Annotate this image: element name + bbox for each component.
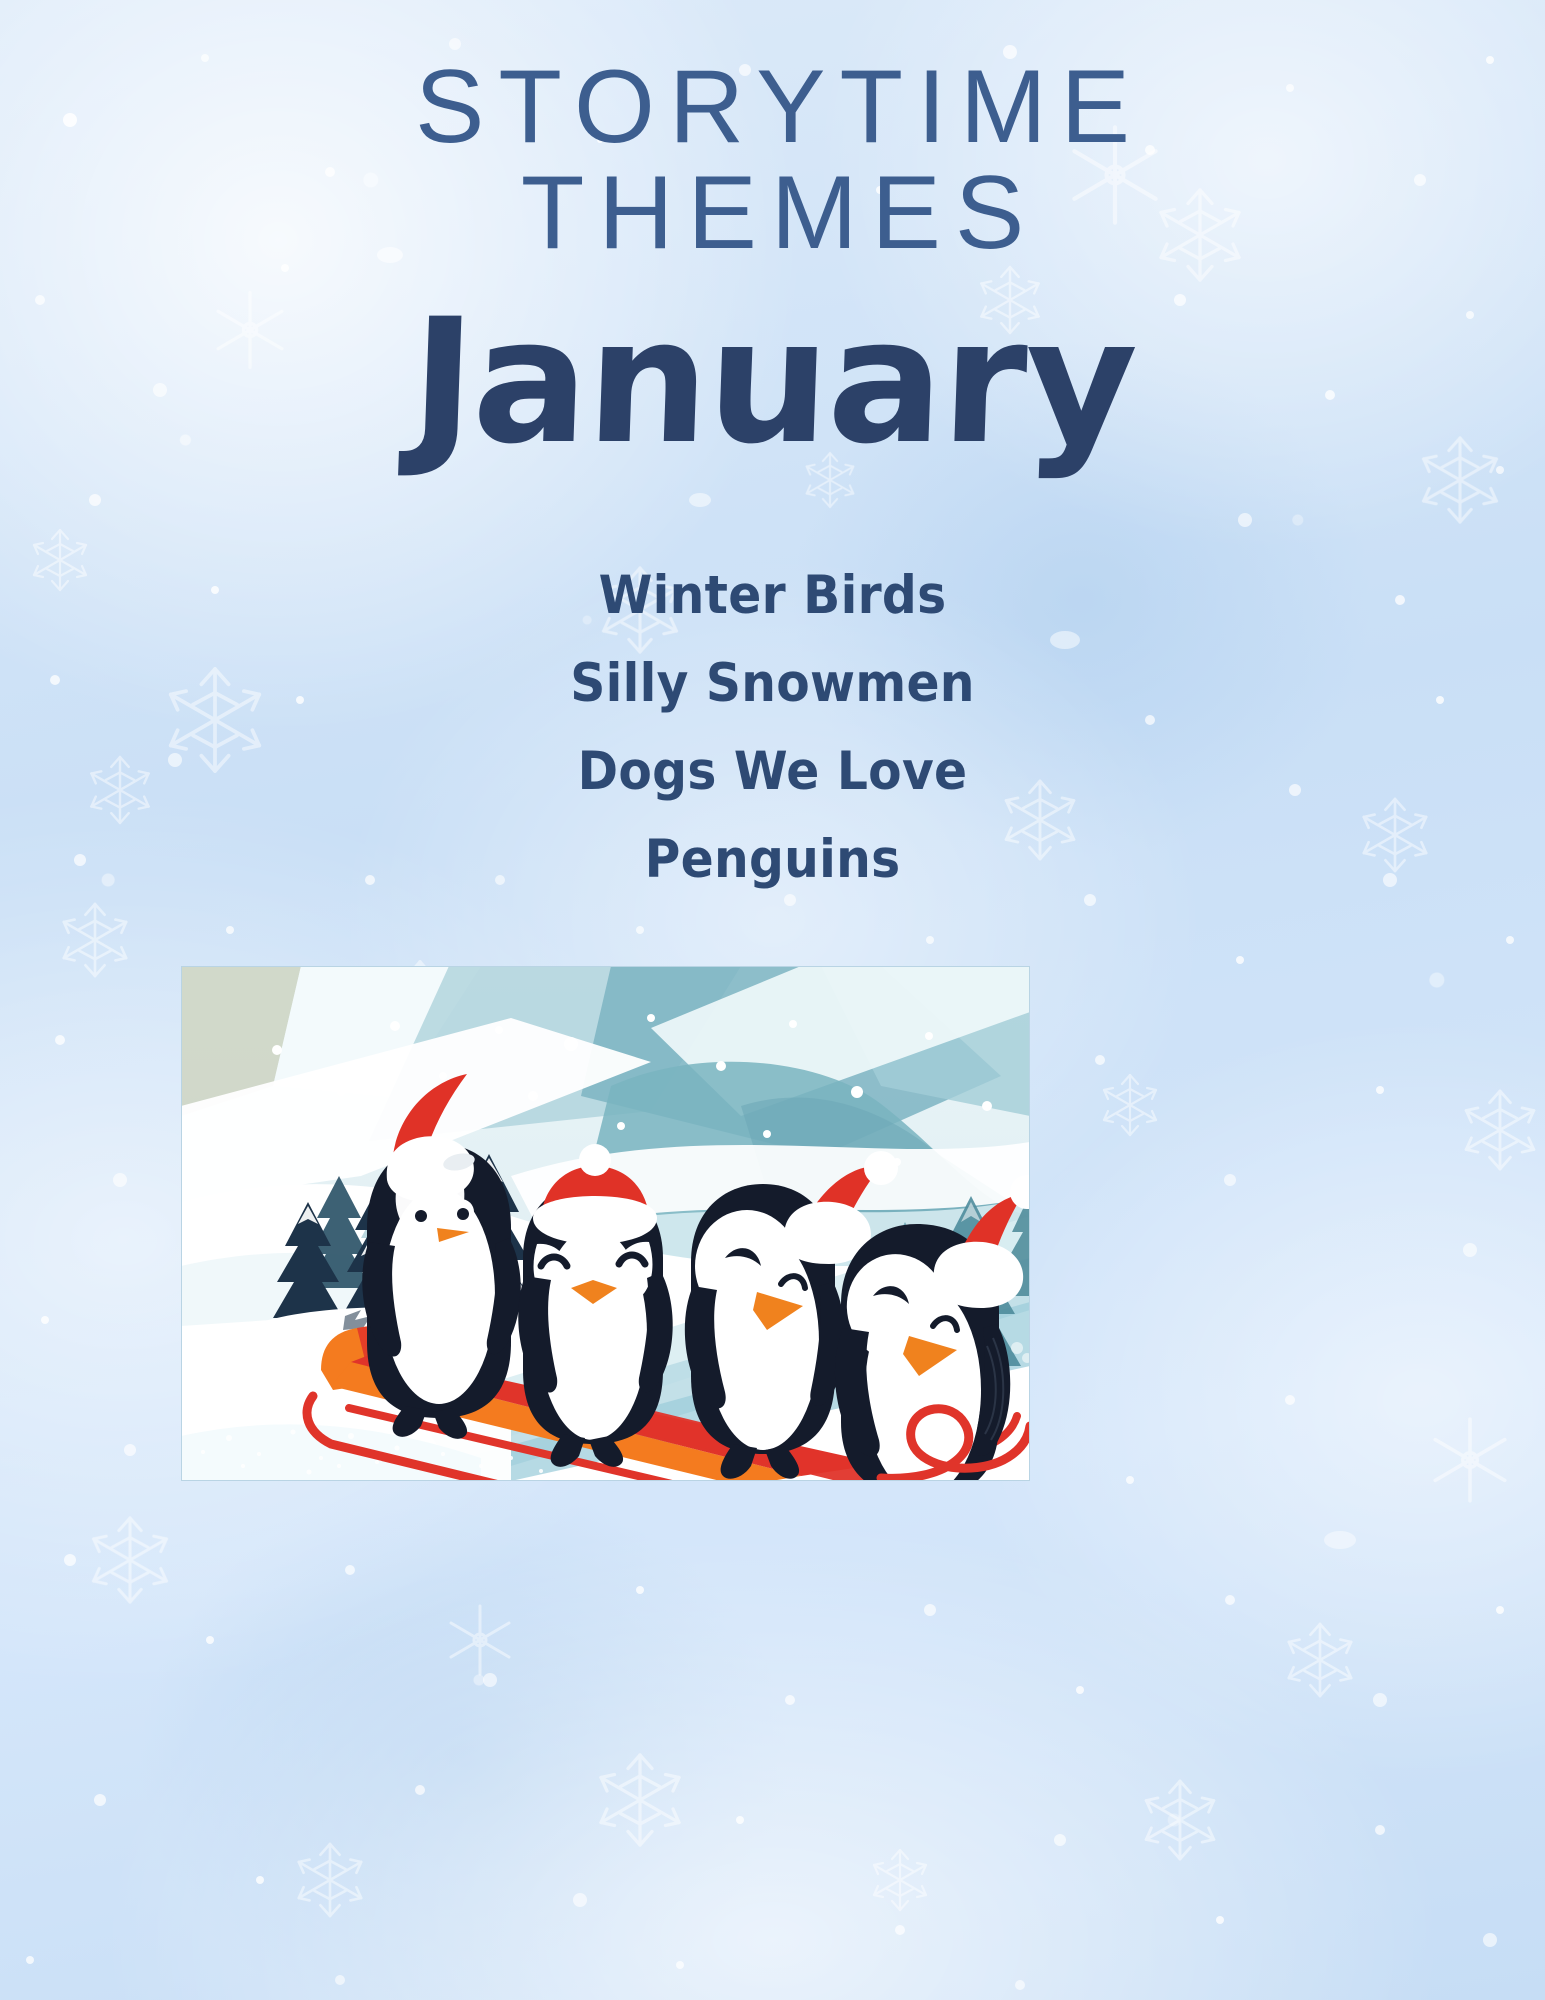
list-item: Winter Birds — [62, 552, 1483, 640]
penguin-2-hat-brim — [533, 1196, 657, 1244]
penguin-1-eye-right — [457, 1208, 469, 1220]
poster-page: STORYTIME THEMES January Winter Birds Si… — [0, 0, 1545, 2000]
penguin-1-eye-left — [415, 1210, 427, 1222]
poster-content: STORYTIME THEMES January Winter Birds Si… — [0, 0, 1545, 2000]
title-line-storytime: STORYTIME — [0, 54, 1545, 160]
penguin-2-hat-pom — [579, 1144, 611, 1176]
month-label: January — [407, 296, 1137, 468]
penguin-3-hat-pom — [864, 1151, 898, 1185]
penguins-on-sled-illustration — [181, 966, 1030, 1481]
list-item: Silly Snowmen — [62, 640, 1483, 728]
list-item: Penguins — [62, 816, 1483, 904]
page-title: STORYTIME THEMES — [0, 54, 1545, 266]
month-heading: January — [0, 296, 1545, 468]
theme-list: Winter Birds Silly Snowmen Dogs We Love … — [0, 552, 1545, 904]
winter-scene-svg — [181, 966, 1030, 1481]
title-line-themes: THEMES — [0, 160, 1545, 266]
list-item: Dogs We Love — [62, 728, 1483, 816]
